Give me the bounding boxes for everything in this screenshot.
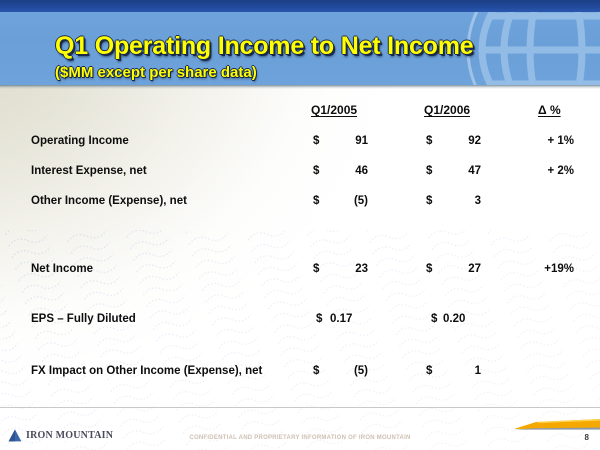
table-cell-value: 0.20 (443, 312, 489, 326)
table-row-label: EPS – Fully Diluted (31, 312, 136, 326)
footer-divider (0, 407, 600, 408)
table-cell-currency: $ (313, 194, 319, 208)
table-cell-value: 27 (443, 262, 481, 276)
table-cell-currency: $ (426, 262, 432, 276)
table-cell-value: 23 (330, 262, 368, 276)
table-cell-value: 1 (443, 364, 481, 378)
table-cell-currency: $ (426, 164, 432, 178)
gold-wedge-accent (514, 418, 600, 430)
table-cell-value: 47 (443, 164, 481, 178)
table-cell-currency: $ (426, 364, 432, 378)
table-row-label: Operating Income (31, 134, 129, 148)
table-row-label: FX Impact on Other Income (Expense), net (31, 364, 262, 378)
slide: Q1 Operating Income to Net Income ($MM e… (0, 0, 600, 450)
confidentiality-notice: CONFIDENTIAL AND PROPRIETARY INFORMATION… (0, 435, 600, 441)
table-cell-currency: $ (313, 164, 319, 178)
table-row-label: Net Income (31, 262, 93, 276)
table-cell-currency: $ (313, 364, 319, 378)
table-cell-value: (5) (330, 364, 368, 378)
table-cell-currency: $ (313, 262, 319, 276)
table-cell-currency: $ (431, 312, 437, 326)
page-number: 8 (585, 433, 589, 442)
table-cell-value: (5) (330, 194, 368, 208)
table-row-label: Interest Expense, net (31, 164, 147, 178)
table-cell-delta: + 1% (512, 134, 574, 148)
table-row-label: Other Income (Expense), net (31, 194, 187, 208)
table-cell-value: 3 (443, 194, 481, 208)
table-cell-value: 0.17 (330, 312, 376, 326)
column-header-q1-2006: Q1/2006 (424, 103, 470, 117)
table-cell-currency: $ (316, 312, 322, 326)
table-cell-delta: +19% (512, 262, 574, 276)
table-cell-value: 92 (443, 134, 481, 148)
financials-table: Q1/2005 Q1/2006 Δ % Operating Income $ 9… (0, 0, 600, 450)
table-cell-delta: + 2% (512, 164, 574, 178)
table-cell-currency: $ (426, 194, 432, 208)
table-cell-value: 91 (330, 134, 368, 148)
column-header-q1-2005: Q1/2005 (311, 103, 357, 117)
table-cell-currency: $ (313, 134, 319, 148)
column-header-delta-pct: Δ % (538, 103, 561, 117)
table-cell-currency: $ (426, 134, 432, 148)
table-cell-value: 46 (330, 164, 368, 178)
